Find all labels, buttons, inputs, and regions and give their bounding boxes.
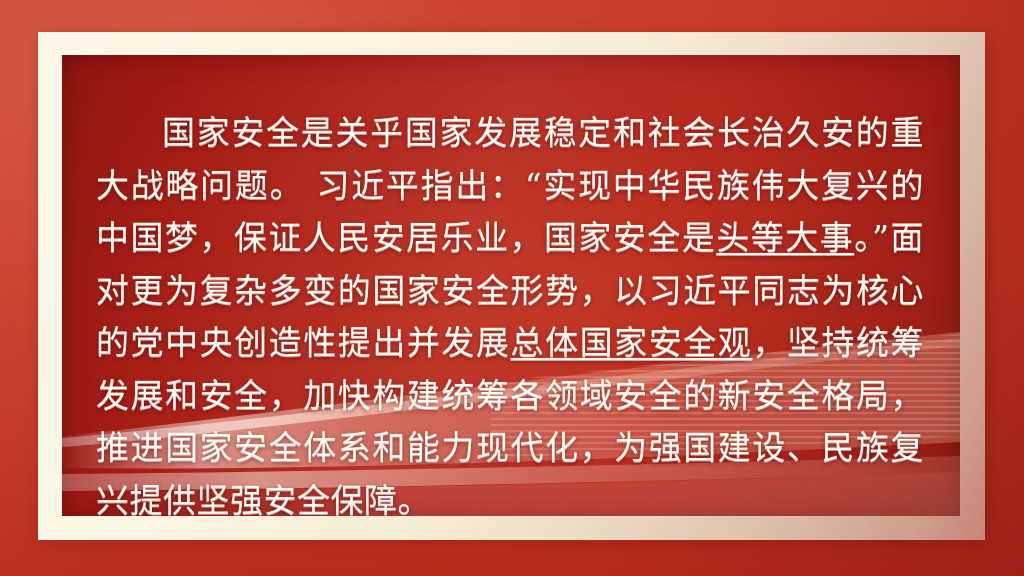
body-paragraph: 国家安全是关乎国家发展稳定和社会长治久安的重大战略问题。 习近平指出：“实现中华… [96,107,924,516]
emphasis-phrase-1: 头等大事 [716,218,854,257]
slide-canvas: 国家安全是关乎国家发展稳定和社会长治久安的重大战略问题。 习近平指出：“实现中华… [0,0,1024,576]
emphasis-phrase-2: 总体国家安全观 [511,323,753,362]
inner-red-panel: 国家安全是关乎国家发展稳定和社会长治久安的重大战略问题。 习近平指出：“实现中华… [62,55,960,516]
text-block: 国家安全是关乎国家发展稳定和社会长治久安的重大战略问题。 习近平指出：“实现中华… [62,55,960,516]
cream-frame-border: 国家安全是关乎国家发展稳定和社会长治久安的重大战略问题。 习近平指出：“实现中华… [38,32,985,540]
